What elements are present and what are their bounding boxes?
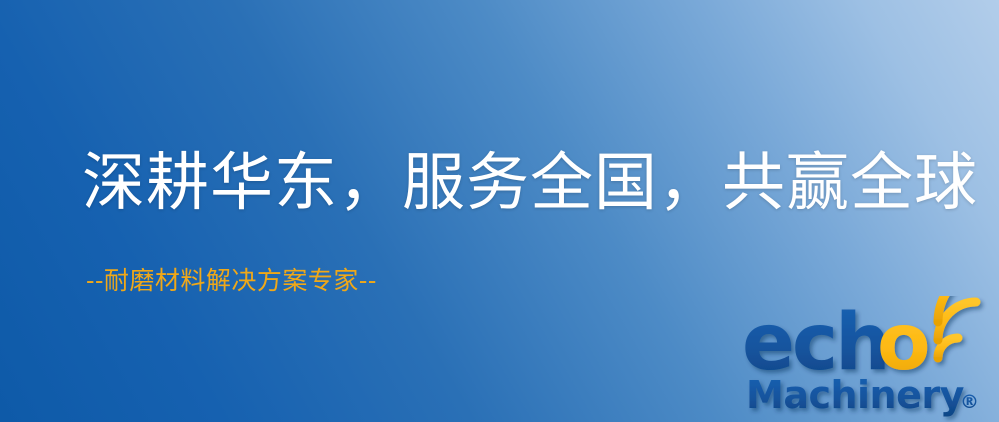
page-title: 深耕华东，服务全国，共赢全球 — [82, 148, 978, 219]
signal-arcs-icon — [938, 296, 994, 358]
logo-machinery-text: Machinery — [746, 373, 965, 417]
tagline: --耐磨材料解决方案专家-- — [86, 266, 377, 296]
promo-banner: 深耕华东，服务全国，共赢全球 --耐磨材料解决方案专家-- — [0, 0, 999, 422]
registered-trademark-icon: ® — [960, 391, 979, 413]
brand-logo[interactable]: ech o Machinery ® — [742, 296, 999, 422]
